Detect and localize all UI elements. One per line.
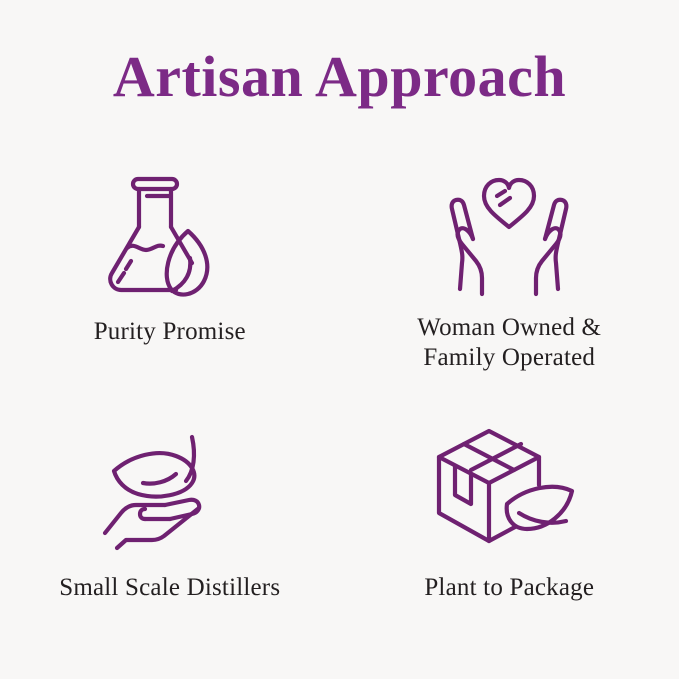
feature-item-small-scale-distillers: Small Scale Distillers — [0, 400, 340, 650]
feature-item-woman-owned: Woman Owned & Family Operated — [340, 150, 679, 400]
feature-item-plant-to-package: Plant to Package — [340, 400, 679, 650]
feature-label: Purity Promise — [94, 317, 246, 347]
feature-label: Plant to Package — [424, 573, 594, 603]
feature-label: Woman Owned & Family Operated — [417, 313, 601, 373]
artisan-approach-panel: Artisan Approach — [0, 0, 679, 679]
box-leaf-icon — [424, 420, 594, 555]
feature-item-purity-promise: Purity Promise — [0, 150, 340, 400]
hand-leaf-icon — [85, 420, 255, 555]
flask-leaf-icon — [85, 164, 255, 299]
page-title: Artisan Approach — [0, 44, 679, 110]
feature-grid: Purity Promise — [0, 150, 679, 650]
feature-label: Small Scale Distillers — [59, 573, 280, 603]
hands-heart-icon — [424, 164, 594, 299]
